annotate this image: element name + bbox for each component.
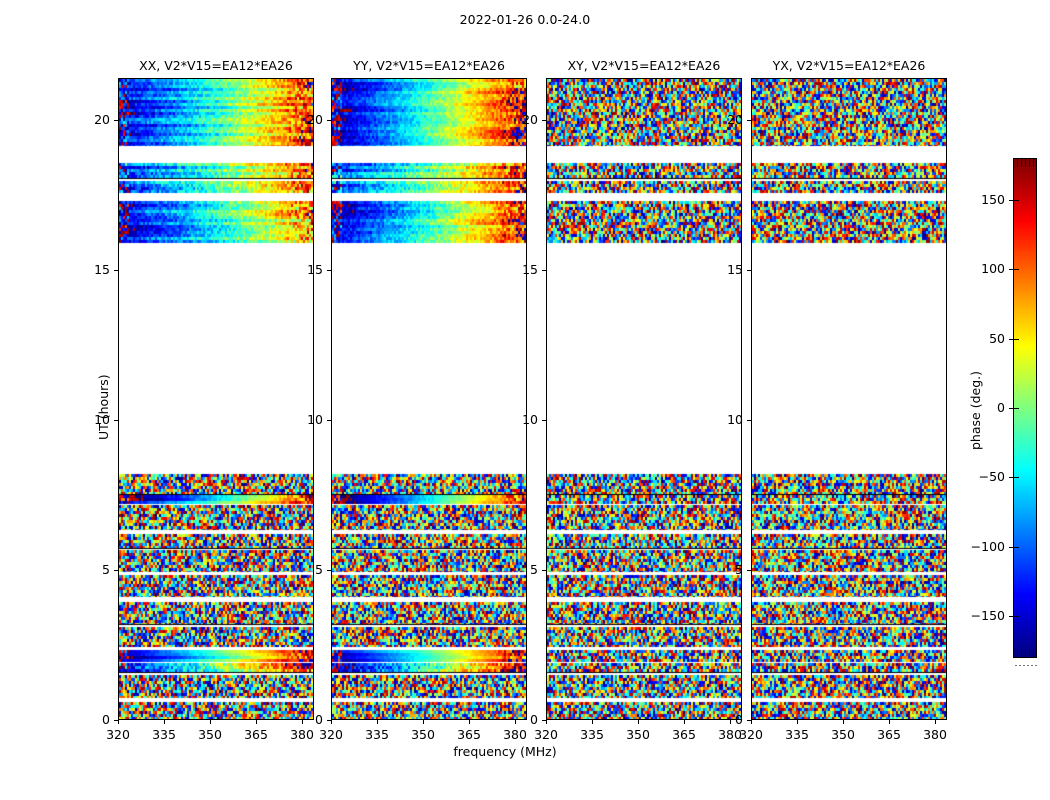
x-tick-mark: [889, 720, 890, 724]
colorbar-tick-mark: [1014, 477, 1019, 478]
y-tick-label: 15: [705, 262, 743, 277]
y-tick-label: 20: [285, 112, 323, 127]
x-tick-label: 380: [913, 727, 957, 742]
colorbar-tick-mark-outer: [1009, 200, 1013, 201]
panel-title-xx: XX, V2*V15=EA12*EA26: [118, 58, 314, 73]
colorbar-tick-label: 150: [947, 192, 1005, 207]
panel-title-yy: YY, V2*V15=EA12*EA26: [331, 58, 527, 73]
y-tick-label: 0: [705, 712, 743, 727]
y-tick-mark: [114, 420, 118, 421]
colorbar-tick-mark-outer: [1009, 408, 1013, 409]
y-tick-mark: [747, 120, 751, 121]
y-tick-mark: [542, 270, 546, 271]
x-tick-mark: [256, 720, 257, 724]
colorbar-tick-mark: [1014, 408, 1019, 409]
x-tick-mark: [638, 720, 639, 724]
y-tick-label: 15: [72, 262, 110, 277]
colorbar-tick-mark: [1014, 547, 1019, 548]
colorbar-tick-mark-outer: [1009, 269, 1013, 270]
x-tick-label: 350: [821, 727, 865, 742]
x-tick-label: 365: [234, 727, 278, 742]
x-axis-label: frequency (MHz): [0, 744, 1010, 759]
x-tick-label: 365: [447, 727, 491, 742]
x-tick-label: 350: [401, 727, 445, 742]
x-tick-mark: [469, 720, 470, 724]
colorbar-extend-top: [1013, 159, 1037, 167]
figure-suptitle: 2022-01-26 0.0-24.0: [0, 12, 1050, 27]
colorbar-tick-mark: [1014, 616, 1019, 617]
x-tick-mark: [118, 720, 119, 724]
y-tick-mark: [747, 270, 751, 271]
colorbar-tick-mark: [1014, 269, 1019, 270]
colorbar-tick-label: 50: [947, 331, 1005, 346]
x-tick-label: 320: [729, 727, 773, 742]
y-tick-label: 10: [705, 412, 743, 427]
colorbar-extend-bottom: [1013, 649, 1037, 657]
x-tick-mark: [210, 720, 211, 724]
x-tick-label: 335: [570, 727, 614, 742]
x-tick-label: 320: [309, 727, 353, 742]
waterfall-image-yx: [752, 79, 946, 719]
y-tick-label: 0: [500, 712, 538, 727]
panel-title-yx: YX, V2*V15=EA12*EA26: [751, 58, 947, 73]
y-tick-label: 5: [72, 562, 110, 577]
y-tick-mark: [542, 570, 546, 571]
y-tick-label: 20: [500, 112, 538, 127]
y-tick-mark: [542, 420, 546, 421]
colorbar-tick-label: −100: [947, 539, 1005, 554]
y-tick-label: 20: [72, 112, 110, 127]
y-tick-mark: [114, 120, 118, 121]
colorbar-tick-mark: [1014, 339, 1019, 340]
waterfall-panel-xy[interactable]: [546, 78, 742, 720]
y-tick-label: 15: [285, 262, 323, 277]
y-tick-mark: [747, 570, 751, 571]
y-tick-label: 20: [705, 112, 743, 127]
y-tick-label: 5: [285, 562, 323, 577]
x-tick-label: 335: [355, 727, 399, 742]
waterfall-image-xx: [119, 79, 313, 719]
x-tick-mark: [935, 720, 936, 724]
colorbar-tick-mark-outer: [1009, 477, 1013, 478]
y-tick-mark: [327, 270, 331, 271]
x-tick-mark: [797, 720, 798, 724]
y-tick-label: 0: [285, 712, 323, 727]
y-tick-mark: [542, 120, 546, 121]
x-tick-label: 350: [616, 727, 660, 742]
colorbar-tick-mark: [1014, 200, 1019, 201]
x-tick-label: 320: [524, 727, 568, 742]
colorbar-tick-label: 100: [947, 261, 1005, 276]
x-tick-label: 335: [775, 727, 819, 742]
waterfall-panel-yy[interactable]: [331, 78, 527, 720]
colorbar-tick-mark-outer: [1009, 616, 1013, 617]
y-tick-mark: [327, 570, 331, 571]
y-tick-label: 5: [500, 562, 538, 577]
x-tick-label: 365: [662, 727, 706, 742]
x-tick-mark: [331, 720, 332, 724]
y-tick-label: 10: [285, 412, 323, 427]
x-tick-mark: [751, 720, 752, 724]
y-axis-label: UT (hours): [96, 374, 111, 440]
x-tick-label: 335: [142, 727, 186, 742]
y-tick-label: 15: [500, 262, 538, 277]
y-tick-label: 0: [72, 712, 110, 727]
waterfall-image-xy: [547, 79, 741, 719]
x-tick-mark: [164, 720, 165, 724]
y-tick-label: 10: [72, 412, 110, 427]
x-tick-mark: [684, 720, 685, 724]
y-tick-mark: [747, 420, 751, 421]
y-tick-mark: [114, 270, 118, 271]
colorbar-tick-mark-outer: [1009, 547, 1013, 548]
x-tick-mark: [377, 720, 378, 724]
x-tick-label: 365: [867, 727, 911, 742]
y-tick-mark: [114, 570, 118, 571]
colorbar-tick-label: −150: [947, 608, 1005, 623]
figure-canvas: 2022-01-26 0.0-24.0 UT (hours) frequency…: [0, 0, 1050, 800]
colorbar-tick-label: 0: [947, 400, 1005, 415]
colorbar-tick-label: −50: [947, 469, 1005, 484]
x-tick-label: 350: [188, 727, 232, 742]
colorbar-tick-mark-outer: [1009, 339, 1013, 340]
x-tick-mark: [843, 720, 844, 724]
y-tick-mark: [327, 420, 331, 421]
waterfall-panel-xx[interactable]: [118, 78, 314, 720]
y-tick-label: 10: [500, 412, 538, 427]
x-tick-mark: [546, 720, 547, 724]
panel-title-xy: XY, V2*V15=EA12*EA26: [546, 58, 742, 73]
waterfall-panel-yx[interactable]: [751, 78, 947, 720]
x-tick-mark: [592, 720, 593, 724]
y-tick-label: 5: [705, 562, 743, 577]
colorbar-under-dots: [1013, 663, 1037, 668]
waterfall-image-yy: [332, 79, 526, 719]
y-tick-mark: [327, 120, 331, 121]
x-tick-mark: [423, 720, 424, 724]
x-tick-label: 320: [96, 727, 140, 742]
